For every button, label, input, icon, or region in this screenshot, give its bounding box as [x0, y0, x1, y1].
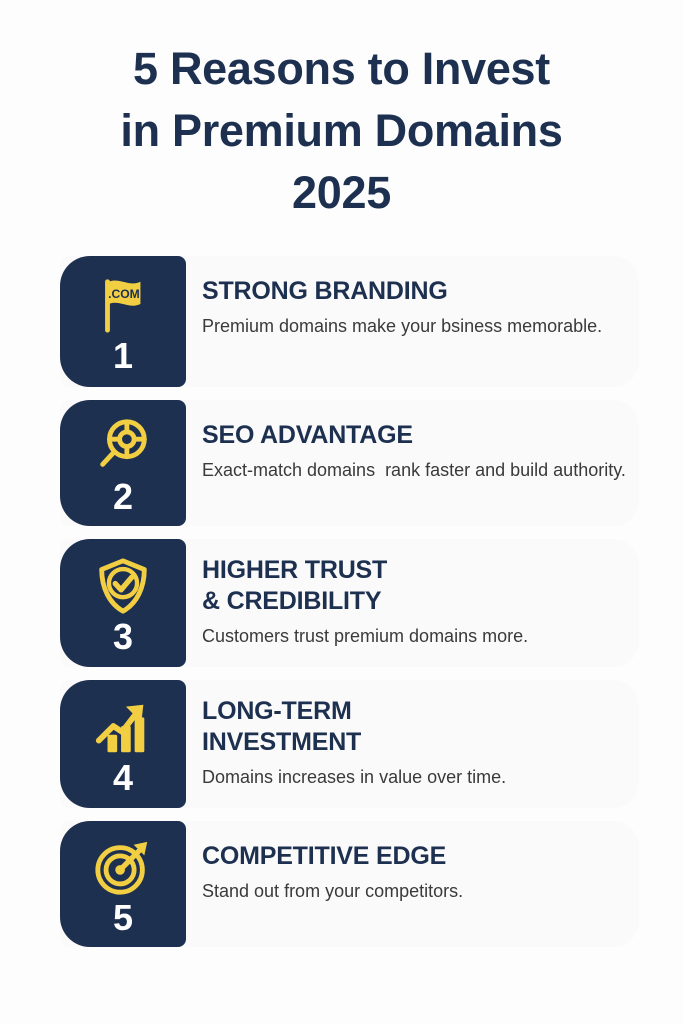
title-line-2: in Premium Domains — [40, 100, 643, 162]
title-line-1: 5 Reasons to Invest — [40, 38, 643, 100]
list-item: 4 LONG-TERM INVESTMENT Domains increases… — [0, 680, 659, 808]
reason-number: 1 — [113, 338, 133, 374]
reason-title-5: COMPETITIVE EDGE — [202, 841, 641, 872]
reason-description-4: Domains increases in value over time. — [202, 764, 641, 790]
title-line: COMPETITIVE EDGE — [202, 841, 641, 872]
title-line: HIGHER TRUST — [202, 555, 641, 586]
reason-badge-5: 5 — [60, 821, 186, 947]
reason-title-1: STRONG BRANDING — [202, 276, 641, 307]
list-item: .COM 1 STRONG BRANDING Premium domains m… — [0, 256, 659, 387]
shield-check-icon — [92, 555, 154, 617]
reason-text-4: LONG-TERM INVESTMENT Domains increases i… — [186, 680, 659, 808]
page-title: 5 Reasons to Invest in Premium Domains 2… — [0, 0, 683, 224]
svg-text:.COM: .COM — [108, 287, 140, 301]
reason-badge-4: 4 — [60, 680, 186, 808]
title-line: LONG-TERM — [202, 696, 641, 727]
reason-text-3: HIGHER TRUST & CREDIBILITY Customers tru… — [186, 539, 659, 667]
reason-title-4: LONG-TERM INVESTMENT — [202, 696, 641, 758]
reason-badge-1: .COM 1 — [60, 256, 186, 387]
reason-description-1: Premium domains make your bsiness memora… — [202, 313, 641, 339]
reason-text-1: STRONG BRANDING Premium domains make you… — [186, 256, 659, 387]
title-line: INVESTMENT — [202, 727, 641, 758]
reasons-list: .COM 1 STRONG BRANDING Premium domains m… — [0, 256, 683, 947]
reason-text-2: SEO ADVANTAGE Exact-match domains rank f… — [186, 400, 659, 526]
reason-badge-3: 3 — [60, 539, 186, 667]
title-line-3: 2025 — [40, 162, 643, 224]
reason-number: 5 — [113, 900, 133, 936]
list-item: 5 COMPETITIVE EDGE Stand out from your c… — [0, 821, 659, 947]
reason-badge-2: 2 — [60, 400, 186, 526]
reason-number: 4 — [113, 760, 133, 796]
list-item: 2 SEO ADVANTAGE Exact-match domains rank… — [0, 400, 659, 526]
reason-description-2: Exact-match domains rank faster and buil… — [202, 457, 641, 483]
reason-text-5: COMPETITIVE EDGE Stand out from your com… — [186, 821, 659, 947]
title-line: & CREDIBILITY — [202, 586, 641, 617]
reason-description-3: Customers trust premium domains more. — [202, 623, 641, 649]
title-line: SEO ADVANTAGE — [202, 420, 641, 451]
title-line: STRONG BRANDING — [202, 276, 641, 307]
reason-number: 3 — [113, 619, 133, 655]
reason-title-3: HIGHER TRUST & CREDIBILITY — [202, 555, 641, 617]
flag-dot-com-icon: .COM — [92, 274, 154, 336]
reason-description-5: Stand out from your competitors. — [202, 878, 641, 904]
infographic-poster: 5 Reasons to Invest in Premium Domains 2… — [0, 0, 683, 1024]
magnifier-target-icon — [92, 415, 154, 477]
reason-title-2: SEO ADVANTAGE — [202, 420, 641, 451]
reason-number: 2 — [113, 479, 133, 515]
growth-chart-arrow-icon — [92, 696, 154, 758]
target-dart-icon — [92, 836, 154, 898]
list-item: 3 HIGHER TRUST & CREDIBILITY Customers t… — [0, 539, 659, 667]
